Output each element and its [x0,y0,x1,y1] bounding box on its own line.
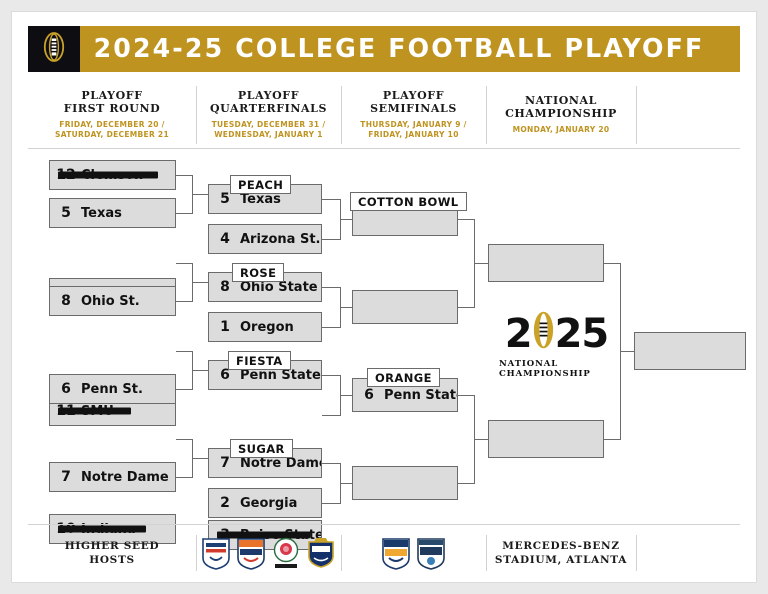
championship-caption: NATIONAL CHAMPIONSHIP [499,359,614,379]
quarterfinal-slot[interactable]: 2 Georgia [208,488,322,518]
connector [176,301,192,302]
team-name: Oregon [240,320,294,335]
connector [176,477,192,478]
connector [176,351,192,352]
team-name: Penn State [384,388,458,403]
connector [322,327,340,328]
connector [322,415,340,416]
connector [192,370,208,371]
quarterfinal-slot[interactable]: 4 Arizona St. [208,224,322,254]
eliminated-strikethrough [58,408,131,415]
bowl-tag-orange: ORANGE [367,368,440,387]
goodyear-cotton-bowl-logo [416,536,446,570]
footer-spacer [636,525,740,581]
first-round-slot[interactable]: 6 Penn St. [49,374,176,404]
first-round-slot[interactable]: 7 Notre Dame [49,462,176,492]
bowl-tag-sugar: SUGAR [230,439,293,458]
connector [340,219,352,220]
seed: 8 [56,293,76,309]
year-digits-right: 25 [555,314,609,354]
connector [458,483,474,484]
connector [340,307,352,308]
connector [340,483,352,484]
final-slot[interactable] [488,244,604,282]
seed: 4 [215,231,235,247]
team-name: Georgia [240,496,297,511]
rose-bowl-logo [271,536,301,570]
connector [322,463,340,464]
bracket-page: 2024-25 COLLEGE FOOTBALL PLAYOFF PLAYOFF… [12,12,756,582]
venue-cell: MERCEDES-BENZ STADIUM, ATLANTA [486,525,636,581]
team-name: Arizona St. [240,232,321,247]
connector [192,282,208,283]
trumanns-fiesta-bowl-logo [201,536,231,570]
allstate-sugar-bowl-logo [306,536,336,570]
connector [340,395,352,396]
higher-seed-line2: HOSTS [65,553,160,567]
page-footer: HIGHER SEED HOSTS [28,525,740,581]
connector [322,287,340,288]
higher-seed-hosts-cell: HIGHER SEED HOSTS [28,525,196,581]
team-name: Ohio St. [81,294,140,309]
seed: 1 [215,319,235,335]
bowl-tag-cotton-bowl: COTTON BOWL [350,192,467,211]
first-round-slot[interactable]: 5 Texas [49,198,176,228]
cfp-football-icon [533,311,554,356]
connector [322,375,340,376]
team-name: Notre Dame [81,470,169,485]
venue-line2: STADIUM, ATLANTA [495,553,627,567]
connector [458,219,474,220]
championship-year: 2 25 [505,311,609,356]
connector [620,351,634,352]
seed: 2 [215,495,235,511]
connector [322,199,340,200]
connector [176,263,192,264]
semifinal-slot[interactable] [352,466,458,500]
bowl-tag-peach: PEACH [230,175,291,194]
connector [176,439,192,440]
team-name: Texas [81,206,122,221]
eliminated-strikethrough [58,172,158,179]
connector [176,175,192,176]
seed: 7 [56,469,76,485]
quarterfinal-bowl-logos-cell [196,525,341,581]
seed: 6 [56,381,76,397]
first-round-slot[interactable]: 12 Clemson [49,160,176,190]
first-round-slot[interactable]: 8 Ohio St. [49,286,176,316]
bracket: 12 Clemson 5 Texas 9 Tennessee 8 Ohio St… [12,12,756,582]
capital-one-orange-bowl-logo [381,536,411,570]
higher-seed-line1: HIGHER SEED [65,539,160,553]
team-name: Penn St. [81,382,143,397]
bowl-tag-rose: ROSE [232,263,284,282]
connector [192,458,208,459]
semifinal-slot[interactable] [352,290,458,324]
national-championship-logo: 2 25 NATIONAL CHAMPIONSHIP [499,310,614,380]
connector [458,307,474,308]
quarterfinal-slot[interactable]: 1 Oregon [208,312,322,342]
connector [176,213,192,214]
bowl-tag-fiesta: FIESTA [228,351,291,370]
connector [474,439,488,440]
connector [322,503,340,504]
final-slot[interactable] [488,420,604,458]
seed: 5 [56,205,76,221]
connector [322,239,340,240]
connector [192,194,208,195]
seed: 6 [359,387,379,403]
venue-line1: MERCEDES-BENZ [495,539,627,553]
connector [604,439,620,440]
chick-fil-a-peach-bowl-logo [236,536,266,570]
connector [604,263,620,264]
connector [458,395,474,396]
year-digits-left: 2 [505,314,532,354]
connector [176,389,192,390]
champion-slot[interactable] [634,332,746,370]
connector [474,263,488,264]
semifinal-bowl-logos-cell [341,525,486,581]
